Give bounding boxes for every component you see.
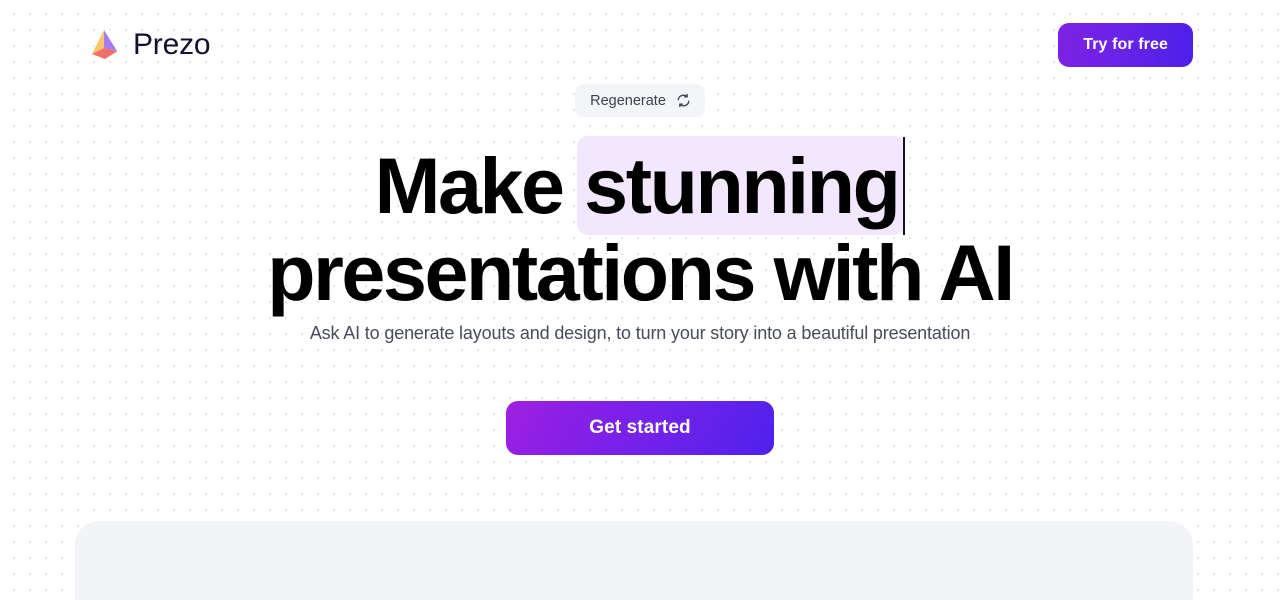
headline-line-2: presentations with AI — [0, 235, 1280, 311]
brand-logo-link[interactable]: Prezo — [86, 27, 210, 63]
text-cursor-caret — [903, 137, 905, 235]
get-started-button[interactable]: Get started — [506, 401, 774, 455]
prezo-pyramid-logo-icon — [86, 27, 122, 63]
regenerate-button-label: Regenerate — [590, 93, 666, 109]
regenerate-row: Regenerate — [0, 84, 1280, 117]
regenerate-button[interactable]: Regenerate — [575, 84, 705, 117]
hero-subtitle: Ask AI to generate layouts and design, t… — [0, 321, 1280, 346]
headline-line-1: Make stunning — [0, 137, 1280, 235]
hero-cta-row: Get started — [0, 401, 1280, 455]
brand-name: Prezo — [133, 27, 210, 63]
headline-prefix: Make — [375, 141, 563, 230]
refresh-icon — [676, 93, 691, 108]
headline-highlighted-word[interactable]: stunning — [582, 141, 900, 230]
hero-headline: Make stunning presentations with AI — [0, 137, 1280, 311]
preview-panel[interactable] — [75, 521, 1193, 600]
site-header: Prezo Try for free — [0, 0, 1280, 90]
try-for-free-button[interactable]: Try for free — [1058, 23, 1193, 67]
